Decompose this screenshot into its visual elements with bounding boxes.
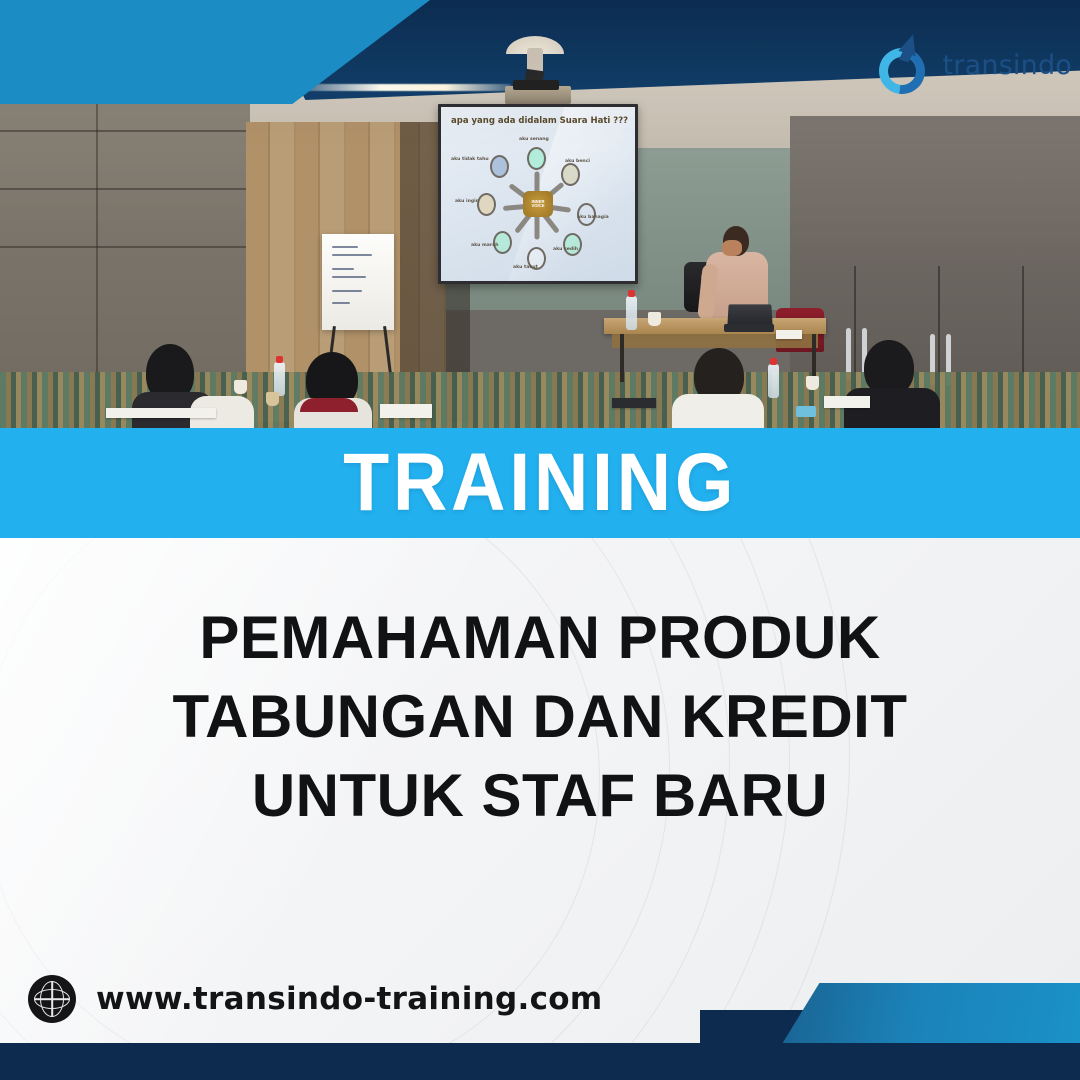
node-1 <box>527 147 546 170</box>
participant-body-3 <box>672 394 764 430</box>
water-bottle-left <box>274 362 285 396</box>
laptop-screen <box>727 304 772 326</box>
projector-icon <box>505 86 571 104</box>
notebook-left <box>380 404 432 418</box>
node-3 <box>561 163 580 186</box>
cup-front <box>648 312 661 326</box>
water-bottle-front <box>626 296 637 330</box>
content-panel: PEMAHAMAN PRODUK TABUNGAN DAN KREDIT UNT… <box>0 538 1080 1043</box>
website-url[interactable]: www.transindo-training.com <box>96 981 602 1017</box>
cup-left-2 <box>266 392 279 406</box>
slide-title: apa yang ada didalam Suara Hati ??? <box>451 116 629 126</box>
cup-right <box>806 376 819 390</box>
laptop-base <box>724 324 774 332</box>
ceiling-light-strip <box>292 84 512 91</box>
brand-logo: transindo <box>875 34 1072 96</box>
banner-label: TRAINING <box>343 436 737 530</box>
title-line-3: UNTUK STAF BARU <box>0 756 1080 835</box>
water-bottle-right <box>768 364 779 398</box>
participant-collar-2 <box>300 398 358 412</box>
training-banner: TRAINING <box>0 428 1080 538</box>
cup-left <box>234 380 247 394</box>
training-poster: apa yang ada didalam Suara Hati ??? <box>0 0 1080 1080</box>
phone-right <box>796 406 816 417</box>
participant-body-4 <box>844 388 940 430</box>
table-left <box>106 408 216 418</box>
website-row[interactable]: www.transindo-training.com <box>28 975 602 1023</box>
paper-front <box>776 330 802 339</box>
footer-band <box>0 1043 1080 1080</box>
node-7 <box>563 233 582 256</box>
page-title: PEMAHAMAN PRODUK TABUNGAN DAN KREDIT UNT… <box>0 598 1080 836</box>
laptop-right <box>612 398 656 408</box>
projection-screen: apa yang ada didalam Suara Hati ??? <box>438 104 638 284</box>
title-line-1: PEMAHAMAN PRODUK <box>0 598 1080 677</box>
node-2 <box>490 155 509 178</box>
title-line-2: TABUNGAN DAN KREDIT <box>0 677 1080 756</box>
node-4 <box>477 193 496 216</box>
presenter-face <box>722 240 742 256</box>
brand-name: transindo <box>943 50 1072 81</box>
transindo-circle-arrow-icon <box>875 34 937 96</box>
slide-hub: INNER VOICE <box>523 191 553 217</box>
notebook-right <box>824 396 870 408</box>
globe-icon <box>28 975 76 1023</box>
flipchart <box>322 234 394 330</box>
